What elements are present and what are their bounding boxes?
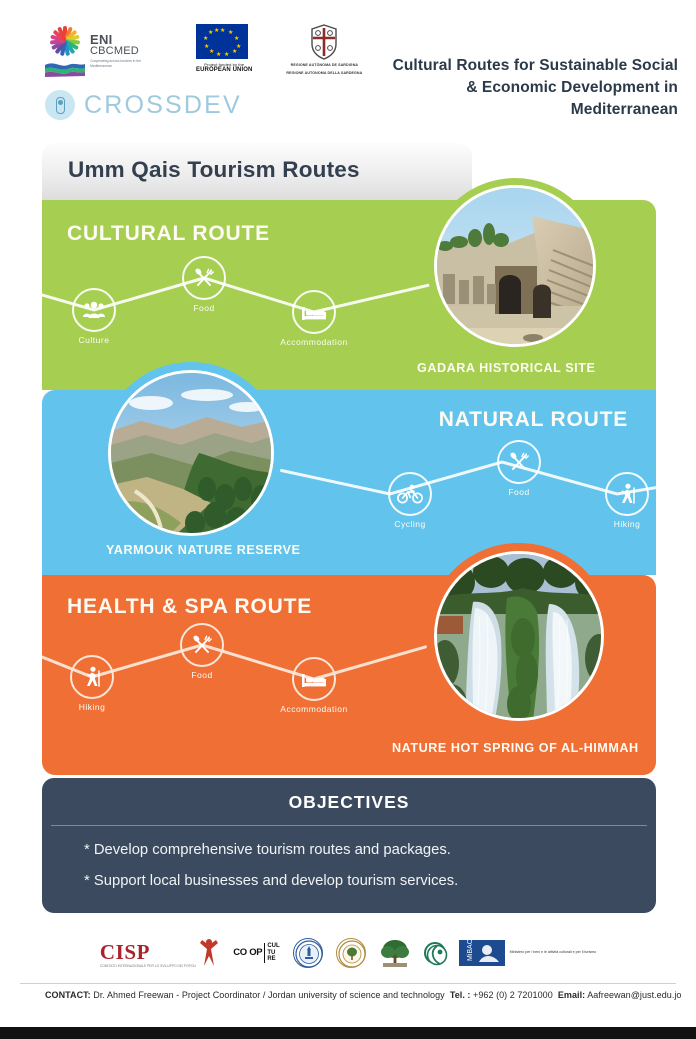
contact-person: Dr. Ahmed Freewan - Project Coordinator … xyxy=(93,990,444,1000)
route-stop-label: Food xyxy=(193,303,214,313)
food-icon xyxy=(193,267,215,289)
accommodation-icon xyxy=(301,671,327,688)
food-icon xyxy=(508,451,530,473)
route-stop-label: Accommodation xyxy=(280,704,347,714)
route-stop-hiking-health[interactable]: Hiking xyxy=(70,655,114,699)
partner-logos-row: CISP COMITATO INTERNAZIONALE PER LO SVIL… xyxy=(0,925,696,981)
hiking-icon xyxy=(82,666,102,688)
eu-caption-line2: EUROPEAN UNION xyxy=(196,67,252,73)
route-caption-natural: YARMOUK NATURE RESERVE xyxy=(106,543,301,557)
route-band-health-spa: HEALTH & SPA ROUTE Hiking xyxy=(42,575,656,775)
route-stop-food-natural[interactable]: Food xyxy=(497,440,541,484)
route-stop-food-cultural[interactable]: Food xyxy=(182,256,226,300)
cycling-icon xyxy=(397,484,423,504)
project-tagline: Cultural Routes for Sustainable Social &… xyxy=(378,55,678,121)
food-icon xyxy=(191,634,213,656)
eni-sun-icon xyxy=(48,24,82,58)
footer-divider xyxy=(20,983,676,984)
sardinia-caption-line2: REGIONE AUTONOMA DELLA SARDEGNA xyxy=(286,71,362,76)
route-stop-label: Cycling xyxy=(394,519,425,529)
route-stop-label: Hiking xyxy=(614,519,641,529)
culture-icon xyxy=(82,301,106,319)
route-stop-label: Hiking xyxy=(79,702,106,712)
route-band-cultural: CULTURAL ROUTE Culture xyxy=(42,200,656,390)
route-label-cultural: CULTURAL ROUTE xyxy=(67,222,270,246)
route-stop-cycling[interactable]: Cycling xyxy=(388,472,432,516)
email-value[interactable]: Aafreewan@just.edu.jo xyxy=(587,990,681,1000)
crossdev-badge-icon xyxy=(45,90,75,120)
eni-wordmark: ENI CBCMED Cooperating across borders in… xyxy=(90,33,162,68)
partner-logo-cisp: CISP COMITATO INTERNAZIONALE PER LO SVIL… xyxy=(100,938,220,968)
coop-line-re: RE xyxy=(267,956,279,962)
eni-program: CBCMED xyxy=(90,46,162,57)
header-logo-row: ENI CBCMED Cooperating across borders in… xyxy=(45,24,362,77)
objectives-list: * Develop comprehensive tourism routes a… xyxy=(42,826,656,893)
partner-logo-environment-seal xyxy=(336,938,366,968)
page-title: Umm Qais Tourism Routes xyxy=(68,157,360,183)
route-stop-label: Food xyxy=(508,487,529,497)
route-stop-accommodation-cultural[interactable]: Accommodation xyxy=(292,290,336,334)
eu-flag-icon: ★ ★ ★ ★ ★ ★ ★ ★ ★ ★ ★ ★ xyxy=(196,24,248,59)
mibact-caption: Ministero per i beni e le attività cultu… xyxy=(510,950,597,955)
coop-line-cul: CUL xyxy=(267,943,279,949)
sardinia-region-logo: REGIONE AUTÒNOMA DE SARDIGNA REGIONE AUT… xyxy=(286,24,362,77)
cisp-subtitle: COMITATO INTERNAZIONALE PER LO SVILUPPO … xyxy=(100,964,196,968)
tel-value: +962 (0) 2 7201000 xyxy=(473,990,553,1000)
sardinia-crest-icon xyxy=(309,24,339,60)
route-label-natural: NATURAL ROUTE xyxy=(439,408,628,432)
coop-line1: CO OP xyxy=(233,948,262,958)
eni-cbcmed-logo: ENI CBCMED Cooperating across borders in… xyxy=(45,24,162,77)
contact-label: CONTACT: xyxy=(45,990,91,1000)
route-stop-culture[interactable]: Culture xyxy=(72,288,116,332)
route-label-health-spa: HEALTH & SPA ROUTE xyxy=(67,595,312,619)
photo-nature-hot-spring-al-himmah xyxy=(434,551,604,721)
objectives-title: OBJECTIVES xyxy=(42,778,656,813)
tree-logo-icon xyxy=(379,938,411,968)
email-label: Email: xyxy=(558,990,585,1000)
objectives-panel: OBJECTIVES * Develop comprehensive touri… xyxy=(42,778,656,913)
mibact-logo-icon: MiBACT xyxy=(459,940,505,966)
bottom-bar xyxy=(0,1027,696,1039)
objective-item: * Develop comprehensive tourism routes a… xyxy=(84,840,656,861)
hiking-icon xyxy=(617,483,637,505)
routes-card: Umm Qais Tourism Routes CULTURAL ROUTE C… xyxy=(42,143,656,775)
photo-yarmouk-nature-reserve xyxy=(108,370,274,536)
contact-line: CONTACT: Dr. Ahmed Freewan - Project Coo… xyxy=(45,990,682,1000)
cisp-wordmark: CISP xyxy=(100,943,196,962)
route-caption-cultural: GADARA HISTORICAL SITE xyxy=(417,361,595,375)
svg-text:MiBACT: MiBACT xyxy=(467,940,474,961)
poster: ENI CBCMED Cooperating across borders in… xyxy=(0,0,696,1039)
partner-logo-globe xyxy=(424,942,446,964)
route-stop-food-health[interactable]: Food xyxy=(180,623,224,667)
sardinia-caption-line1: REGIONE AUTÒNOMA DE SARDIGNA xyxy=(286,63,362,68)
photo-gadara-historical-site xyxy=(434,185,596,347)
european-union-logo: ★ ★ ★ ★ ★ ★ ★ ★ ★ ★ ★ ★ Project funded b… xyxy=(196,24,252,73)
route-stop-label: Food xyxy=(191,670,212,680)
globe-logo-icon xyxy=(424,942,446,964)
objective-item: * Support local businesses and develop t… xyxy=(84,871,656,892)
route-stop-label: Accommodation xyxy=(280,337,347,347)
crossdev-logo: CROSSDEV xyxy=(45,90,242,120)
cisp-figure-icon xyxy=(198,938,220,968)
header: ENI CBCMED Cooperating across borders in… xyxy=(0,0,696,140)
accommodation-icon xyxy=(301,304,327,321)
title-banner: Umm Qais Tourism Routes xyxy=(42,143,472,200)
partner-logo-jordan-seal xyxy=(293,938,323,968)
partner-logo-mibact: MiBACT Ministero per i beni e le attivit… xyxy=(459,940,597,966)
jordan-seal-icon xyxy=(293,938,323,968)
partner-logo-coopculture: CO OP CUL TU RE xyxy=(233,943,279,962)
crossdev-wordmark: CROSSDEV xyxy=(84,91,242,120)
route-stop-accommodation-health[interactable]: Accommodation xyxy=(292,657,336,701)
eni-wave-icon xyxy=(45,60,85,77)
environment-seal-icon xyxy=(336,938,366,968)
route-stop-label: Culture xyxy=(79,335,110,345)
route-stop-hiking-natural[interactable]: Hiking xyxy=(605,472,649,516)
eni-tagline: Cooperating across borders in the Medite… xyxy=(90,59,162,68)
route-band-natural: NATURAL ROUTE Cycling xyxy=(42,390,656,575)
route-caption-health-spa: NATURE HOT SPRING OF AL-HIMMAH xyxy=(392,741,639,755)
partner-logo-tree xyxy=(379,938,411,968)
tel-label: Tel. : xyxy=(450,990,471,1000)
